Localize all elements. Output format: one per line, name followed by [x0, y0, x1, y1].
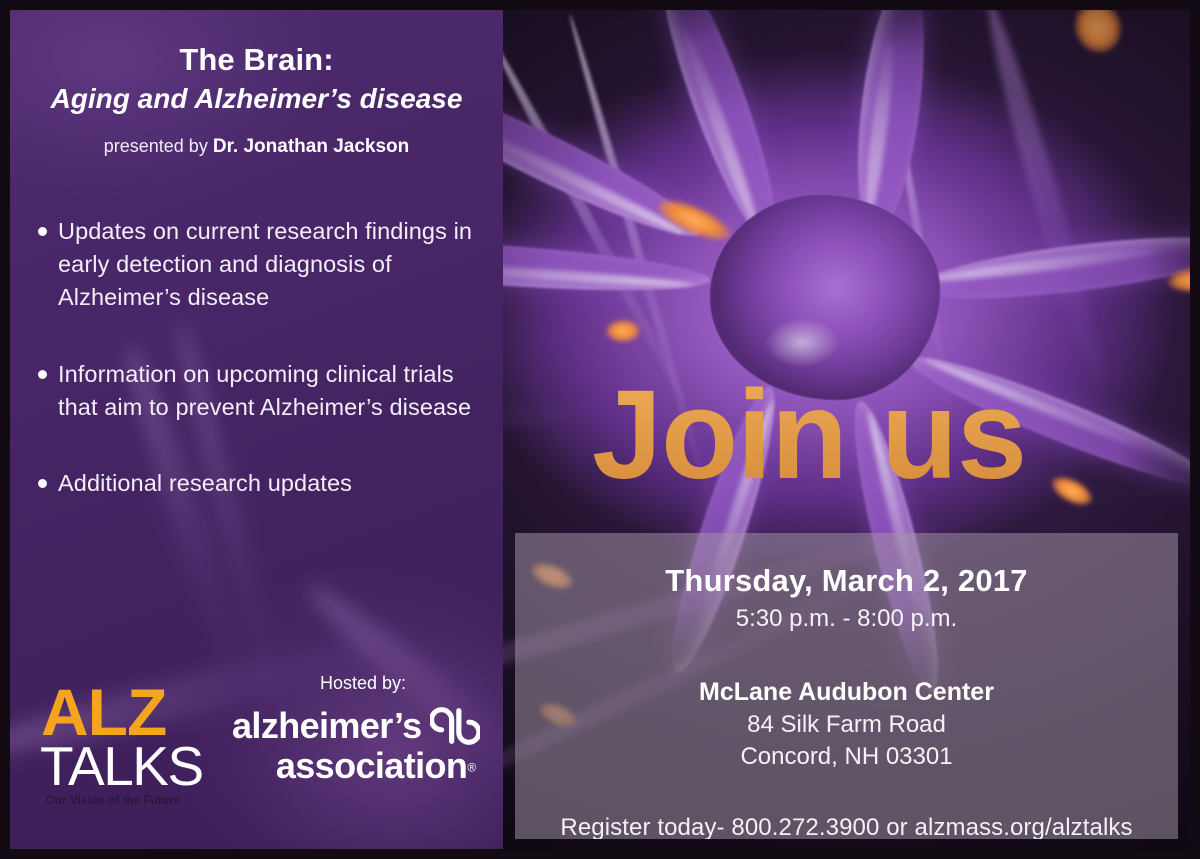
event-details-panel: Thursday, March 2, 2017 5:30 p.m. - 8:00… — [515, 533, 1178, 839]
presenter-line: presented by Dr. Jonathan Jackson — [10, 136, 503, 158]
registration-info: Register today- 800.272.3900 or alzmass.… — [515, 814, 1178, 839]
bullet-list: Updates on current research findings in … — [38, 215, 490, 544]
bullet-text: Updates on current research findings in … — [58, 215, 490, 314]
flyer-canvas: The Brain: Aging and Alzheimer’s disease… — [0, 0, 1200, 859]
association-logo: alzheimer’s — [232, 703, 494, 749]
myelin-highlight — [1047, 471, 1096, 511]
myelin-highlight — [1067, 10, 1128, 59]
association-word-row: association® — [232, 745, 494, 787]
bullet-dot-icon — [38, 370, 47, 379]
myelin-highlight — [606, 320, 640, 342]
association-word-alzheimers: alzheimer’s — [232, 705, 422, 747]
event-address-line1: 84 Silk Farm Road — [515, 711, 1178, 739]
alzheimers-association-brain-mark-icon — [430, 703, 480, 749]
alz-talks-tagline: Our Vision of the Future — [46, 796, 220, 808]
alz-talks-logo: ALZ TALKS Our Vision of the Future — [40, 679, 220, 808]
bullet-dot-icon — [38, 227, 47, 236]
event-venue: McLane Audubon Center — [515, 678, 1178, 707]
event-date: Thursday, March 2, 2017 — [515, 563, 1178, 599]
hosted-by-block: Hosted by: alzheimer’s association® — [232, 673, 494, 787]
title-block: The Brain: Aging and Alzheimer’s disease… — [10, 42, 503, 158]
bullet-dot-icon — [38, 479, 47, 488]
hosted-by-label: Hosted by: — [232, 673, 494, 694]
association-word-association: association — [276, 745, 467, 786]
background-axon-strand — [978, 10, 1119, 410]
list-item: Additional research updates — [38, 467, 490, 500]
page-title: The Brain: — [10, 42, 503, 79]
presenter-name: Dr. Jonathan Jackson — [213, 136, 409, 157]
bullet-text: Information on upcoming clinical trials … — [58, 358, 490, 424]
talks-logo-word: TALKS — [40, 739, 220, 794]
event-address-line2: Concord, NH 03301 — [515, 743, 1178, 771]
registered-trademark-icon: ® — [467, 761, 476, 775]
presented-by-label: presented by — [104, 136, 208, 156]
join-us-headline: Join us — [592, 372, 1026, 498]
left-content-panel: The Brain: Aging and Alzheimer’s disease… — [10, 10, 503, 849]
bullet-text: Additional research updates — [58, 467, 352, 500]
event-time: 5:30 p.m. - 8:00 p.m. — [515, 605, 1178, 633]
page-subtitle: Aging and Alzheimer’s disease — [10, 82, 503, 116]
list-item: Information on upcoming clinical trials … — [38, 358, 490, 424]
list-item: Updates on current research findings in … — [38, 215, 490, 314]
